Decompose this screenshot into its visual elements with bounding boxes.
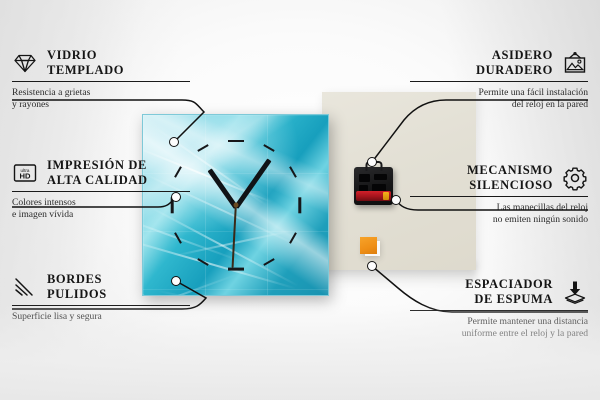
feature-title: BORDESPULIDOS [47, 272, 107, 301]
feature-espaciador-de-espuma: ESPACIADORDE ESPUMA Permite mantener una… [378, 277, 588, 340]
mechanism-slot [359, 174, 370, 182]
feature-asidero-duradero: ASIDERODURADERO Permite una fácil instal… [378, 48, 588, 111]
infographic-canvas: VIDRIOTEMPLADO Resistencia a grietasy ra… [0, 0, 600, 400]
marker-vidrio-templado [169, 137, 179, 147]
marker-mecanismo [391, 195, 401, 205]
foam-spacer-icon [562, 279, 588, 305]
clock-tick [228, 140, 244, 143]
feature-description: Colores intensose imagen vívida [12, 197, 222, 220]
clock-center-pin [233, 203, 238, 208]
feature-description: Permite una fácil instalacióndel reloj e… [378, 87, 588, 110]
feature-heading: VIDRIOTEMPLADO [12, 48, 222, 77]
feature-divider [12, 191, 190, 192]
feature-divider [12, 305, 190, 306]
marker-bordes [171, 276, 181, 286]
clock-tick [228, 268, 244, 271]
feature-description: Permite mantener una distanciauniforme e… [378, 316, 588, 339]
marker-asidero [367, 157, 377, 167]
feature-heading: MECANISMOSILENCIOSO [378, 163, 588, 192]
marker-espaciador [367, 261, 377, 271]
feature-divider [12, 81, 190, 82]
feature-title: ASIDERODURADERO [476, 48, 553, 77]
svg-text:HD: HD [20, 171, 31, 180]
feature-title: VIDRIOTEMPLADO [47, 48, 124, 77]
ultra-hd-icon: ultra HD [12, 160, 38, 186]
feature-divider [410, 81, 588, 82]
feature-description: Resistencia a grietasy rayones [12, 87, 222, 110]
foam-spacer-piece [360, 237, 377, 254]
feature-description: Superficie lisa y segura [12, 311, 222, 323]
feature-description: Las manecillas del relojno emiten ningún… [378, 202, 588, 225]
feature-heading: ESPACIADORDE ESPUMA [378, 277, 588, 306]
feature-mecanismo-silencioso: MECANISMOSILENCIOSO Las manecillas del r… [378, 163, 588, 226]
clock-tick [298, 197, 301, 213]
feature-title: ESPACIADORDE ESPUMA [465, 277, 553, 306]
diamond-icon [12, 50, 38, 76]
feature-heading: ultra HD IMPRESIÓN DEALTA CALIDAD [12, 158, 222, 187]
feature-vidrio-templado: VIDRIOTEMPLADO Resistencia a grietasy ra… [12, 48, 222, 111]
feature-heading: BORDESPULIDOS [12, 272, 222, 301]
feature-divider [410, 310, 588, 311]
feature-title: IMPRESIÓN DEALTA CALIDAD [47, 158, 148, 187]
feature-impresion-alta-calidad: ultra HD IMPRESIÓN DEALTA CALIDAD Colore… [12, 158, 222, 221]
feature-heading: ASIDERODURADERO [378, 48, 588, 77]
feature-divider [410, 196, 588, 197]
polished-edges-icon [12, 274, 38, 300]
gear-icon [562, 165, 588, 191]
feature-bordes-pulidos: BORDESPULIDOS Superficie lisa y segura [12, 272, 222, 323]
feature-title: MECANISMOSILENCIOSO [467, 163, 553, 192]
wall-hanger-icon [562, 50, 588, 76]
marker-impresion [171, 192, 181, 202]
